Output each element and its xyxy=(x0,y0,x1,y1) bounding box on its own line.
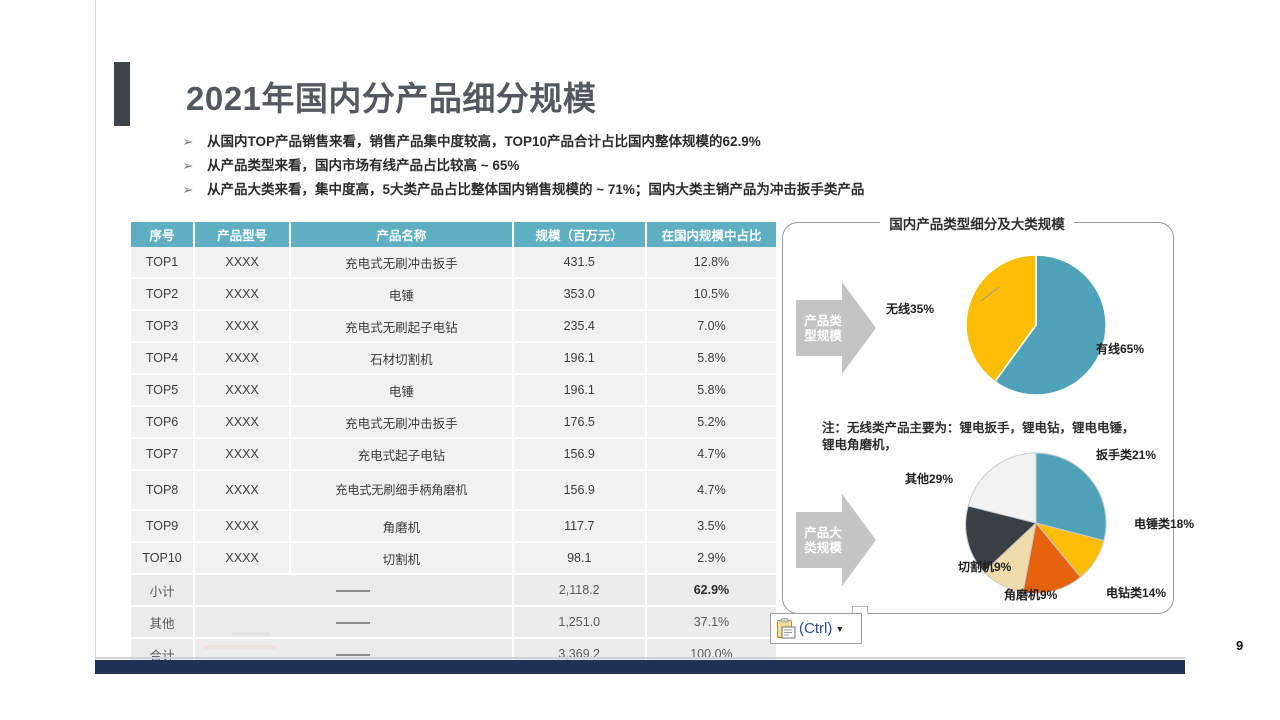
cell-share: 37.1% xyxy=(646,606,776,638)
cell-share: 5.8% xyxy=(646,374,776,406)
table-row: TOP5XXXX电锤196.15.8% xyxy=(131,374,776,406)
table-row: TOP7XXXX充电式起子电钻156.94.7% xyxy=(131,438,776,470)
cell-name: 充电式无刷细手柄角磨机 xyxy=(290,470,513,510)
cell-model: XXXX xyxy=(194,510,290,542)
pie-label-wired: 有线65% xyxy=(1096,340,1144,357)
cell-summary-label: 其他 xyxy=(131,606,194,638)
table-header-row: 序号 产品型号 产品名称 规模（百万元） 在国内规模中占比 xyxy=(131,222,776,247)
list-item: ➢ 从国内TOP产品销售来看，销售产品集中度较高，TOP10产品合计占比国内整体… xyxy=(179,130,1159,154)
table-row: TOP6XXXX充电式无刷冲击扳手176.55.2% xyxy=(131,406,776,438)
cell-share: 7.0% xyxy=(646,310,776,342)
page-number: 9 xyxy=(1236,638,1243,653)
pie-label-hammer: 电锤类18% xyxy=(1134,515,1194,532)
cell-share: 10.5% xyxy=(646,278,776,310)
cell-share-value: 62.9% xyxy=(694,583,729,597)
cell-name: 充电式无刷冲击扳手 xyxy=(290,406,513,438)
pie-chart-product-type xyxy=(941,245,1131,405)
table-row: TOP10XXXX切割机98.12.9% xyxy=(131,542,776,574)
col-header-rank: 序号 xyxy=(131,222,194,247)
cell-rank: TOP7 xyxy=(131,438,194,470)
charts-panel-title-text: 国内产品类型细分及大类规模 xyxy=(880,217,1074,232)
cell-model: XXXX xyxy=(194,342,290,374)
col-header-share: 在国内规模中占比 xyxy=(646,222,776,247)
pie-label-drill: 电钻类14% xyxy=(1106,584,1166,601)
cell-rank: TOP4 xyxy=(131,342,194,374)
bullet-text: 从产品大类来看，集中度高，5大类产品占比整体国内销售规模的 ~ 71%；国内大类… xyxy=(207,182,864,197)
bullet-arrow-icon: ➢ xyxy=(179,154,197,178)
cell-share: 4.7% xyxy=(646,470,776,510)
pie-label-cutter: 切割机9% xyxy=(958,558,1011,575)
cell-scale: 1,251.0 xyxy=(513,606,646,638)
cell-share: 12.8% xyxy=(646,247,776,278)
col-header-name: 产品名称 xyxy=(290,222,513,247)
cell-rank: TOP6 xyxy=(131,406,194,438)
product-scale-table: 序号 产品型号 产品名称 规模（百万元） 在国内规模中占比 TOP1XXXX充电… xyxy=(131,222,776,669)
cell-name: 石材切割机 xyxy=(290,342,513,374)
cell-model: XXXX xyxy=(194,374,290,406)
bullet-arrow-icon: ➢ xyxy=(179,130,197,154)
cell-name: 电锤 xyxy=(290,278,513,310)
cell-model: XXXX xyxy=(194,278,290,310)
cell-scale: 353.0 xyxy=(513,278,646,310)
cell-summary-label: 小计 xyxy=(131,574,194,606)
table-row: TOP3XXXX充电式无刷起子电钻235.47.0% xyxy=(131,310,776,342)
pie-label-wrench: 扳手类21% xyxy=(1096,446,1156,463)
pie-label-wireless: 无线35% xyxy=(886,300,934,317)
pie-label-grinder: 角磨机9% xyxy=(1004,586,1057,603)
em-dash-icon xyxy=(336,590,370,592)
cell-name: 充电式无刷起子电钻 xyxy=(290,310,513,342)
table-row: TOP1XXXX充电式无刷冲击扳手431.512.8% xyxy=(131,247,776,278)
cell-model: XXXX xyxy=(194,247,290,278)
cell-summary-dash xyxy=(194,574,513,606)
list-item: ➢ 从产品大类来看，集中度高，5大类产品占比整体国内销售规模的 ~ 71%；国内… xyxy=(179,178,1159,202)
em-dash-icon xyxy=(336,622,370,624)
cell-scale: 2,118.2 xyxy=(513,574,646,606)
footer-bar xyxy=(95,660,1185,674)
charts-panel-title: 国内产品类型细分及大类规模 xyxy=(782,213,1172,234)
table-summary-row: 小计 2,118.2 62.9% xyxy=(131,574,776,606)
cell-rank: TOP9 xyxy=(131,510,194,542)
cell-share: 2.9% xyxy=(646,542,776,574)
block-arrow-product-type: 产品类 型规模 xyxy=(796,278,876,378)
cell-scale: 235.4 xyxy=(513,310,646,342)
pie-chart-product-category xyxy=(951,445,1121,605)
slide-canvas: 2021年国内分产品细分规模 ➢ 从国内TOP产品销售来看，销售产品集中度较高，… xyxy=(95,0,1186,660)
bullet-arrow-icon: ➢ xyxy=(179,178,197,202)
cell-rank: TOP10 xyxy=(131,542,194,574)
list-item: ➢ 从产品类型来看，国内市场有线产品占比较高 ~ 65% xyxy=(179,154,1159,178)
chevron-down-icon[interactable]: ▼ xyxy=(835,624,844,634)
cell-model: XXXX xyxy=(194,438,290,470)
footer-rule xyxy=(95,657,1185,659)
table-row: TOP8XXXX充电式无刷细手柄角磨机156.94.7% xyxy=(131,470,776,510)
table-row: TOP4XXXX石材切割机196.15.8% xyxy=(131,342,776,374)
cell-scale: 156.9 xyxy=(513,470,646,510)
cell-model: XXXX xyxy=(194,542,290,574)
cell-name: 电锤 xyxy=(290,374,513,406)
col-header-scale: 规模（百万元） xyxy=(513,222,646,247)
cell-rank: TOP2 xyxy=(131,278,194,310)
col-header-model: 产品型号 xyxy=(194,222,290,247)
paste-ctrl-label: (Ctrl) xyxy=(799,620,832,637)
watermark xyxy=(196,630,326,654)
cell-scale: 196.1 xyxy=(513,342,646,374)
cell-name: 切割机 xyxy=(290,542,513,574)
cell-scale: 196.1 xyxy=(513,374,646,406)
bullet-list: ➢ 从国内TOP产品销售来看，销售产品集中度较高，TOP10产品合计占比国内整体… xyxy=(179,130,1159,202)
cell-model: XXXX xyxy=(194,310,290,342)
em-dash-icon xyxy=(336,654,370,656)
page-title: 2021年国内分产品细分规模 xyxy=(186,72,596,120)
cell-share: 5.8% xyxy=(646,342,776,374)
cell-share: 4.7% xyxy=(646,438,776,470)
bullet-text: 从国内TOP产品销售来看，销售产品集中度较高，TOP10产品合计占比国内整体规模… xyxy=(207,134,761,149)
paste-options-button[interactable]: (Ctrl) ▼ xyxy=(770,613,862,644)
cell-share: 62.9% xyxy=(646,574,776,606)
cell-scale: 117.7 xyxy=(513,510,646,542)
cell-rank: TOP1 xyxy=(131,247,194,278)
block-arrow-label: 产品大 类规模 xyxy=(798,526,848,556)
pie-label-other: 其他29% xyxy=(905,470,953,487)
cell-model: XXXX xyxy=(194,406,290,438)
table-body: TOP1XXXX充电式无刷冲击扳手431.512.8% TOP2XXXX电锤35… xyxy=(131,247,776,669)
cell-rank: TOP3 xyxy=(131,310,194,342)
cell-scale: 98.1 xyxy=(513,542,646,574)
cell-name: 充电式起子电钻 xyxy=(290,438,513,470)
table-row: TOP9XXXX角磨机117.73.5% xyxy=(131,510,776,542)
table-row: TOP2XXXX电锤353.010.5% xyxy=(131,278,776,310)
cell-share: 5.2% xyxy=(646,406,776,438)
cell-share: 3.5% xyxy=(646,510,776,542)
bullet-text: 从产品类型来看，国内市场有线产品占比较高 ~ 65% xyxy=(207,158,519,173)
cell-scale: 176.5 xyxy=(513,406,646,438)
title-accent-bar xyxy=(114,62,130,126)
cell-scale: 431.5 xyxy=(513,247,646,278)
cell-scale: 156.9 xyxy=(513,438,646,470)
cell-name: 角磨机 xyxy=(290,510,513,542)
block-arrow-label: 产品类 型规模 xyxy=(798,314,848,344)
slide-stage: 2021年国内分产品细分规模 ➢ 从国内TOP产品销售来看，销售产品集中度较高，… xyxy=(0,0,1280,720)
cell-name: 充电式无刷冲击扳手 xyxy=(290,247,513,278)
block-arrow-product-category: 产品大 类规模 xyxy=(796,490,876,590)
clipboard-icon xyxy=(776,618,796,639)
cell-rank: TOP8 xyxy=(131,470,194,510)
cell-model: XXXX xyxy=(194,470,290,510)
cell-rank: TOP5 xyxy=(131,374,194,406)
